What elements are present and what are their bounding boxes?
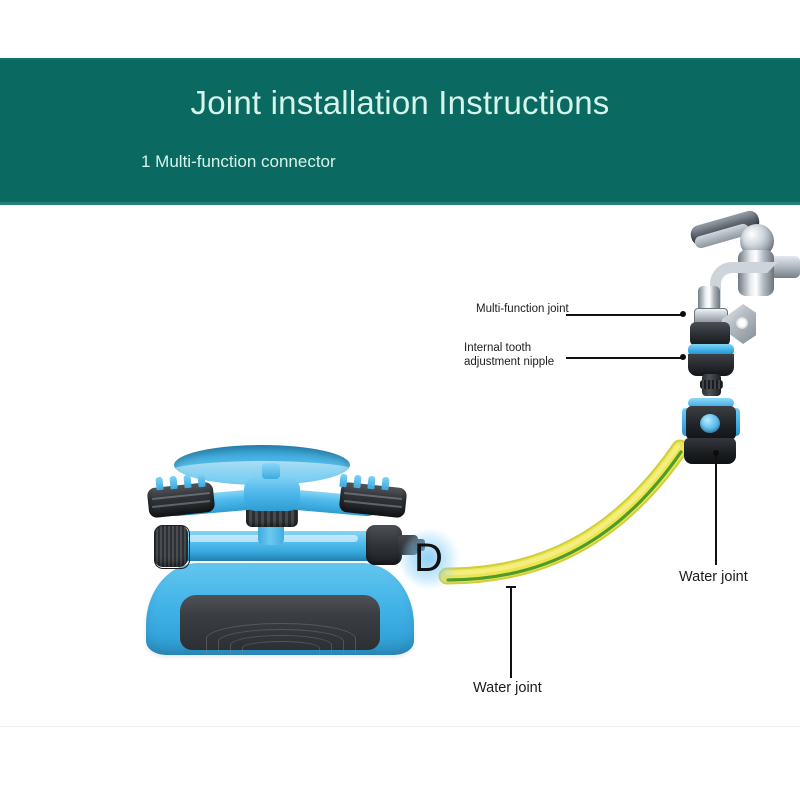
leader-dot-internal-tooth-nipple xyxy=(680,354,686,360)
pad-arc xyxy=(242,641,320,655)
label-water-joint-left: Water joint xyxy=(473,682,542,696)
leader-dot-multi-function-joint xyxy=(680,311,686,317)
nipple-ribs xyxy=(700,380,723,389)
multi-function-joint-lower xyxy=(688,354,734,376)
spray-pin xyxy=(353,475,361,489)
faint-divider xyxy=(0,726,800,727)
rotating-sprinkler-illustration xyxy=(128,455,428,660)
leader-line-water-joint-right xyxy=(715,455,717,565)
spray-pin xyxy=(367,476,375,490)
step-marker-d: D xyxy=(411,536,453,580)
label-multi-function-joint: Multi-function joint xyxy=(476,303,569,317)
leader-cap-water-joint-left xyxy=(506,586,516,588)
clamp-wing-hole xyxy=(736,317,748,329)
step-marker-letter: D xyxy=(414,536,443,580)
spray-pin xyxy=(169,476,177,490)
sprinkler-hub xyxy=(244,477,300,511)
page-title: Joint installation Instructions xyxy=(0,84,800,122)
spray-pin xyxy=(197,474,205,488)
sprinkler-outlet-connector xyxy=(366,525,402,565)
leader-dot-water-joint-right xyxy=(713,450,719,456)
label-internal-tooth-adjustment-nipple: Internal tooth adjustment nipple xyxy=(464,341,554,369)
label-water-joint-right: Water joint xyxy=(679,571,748,585)
leader-line-multi-function-joint xyxy=(566,314,682,316)
spray-pin xyxy=(381,477,389,491)
water-joint-release-button xyxy=(700,414,720,433)
page-subtitle: 1 Multi-function connector xyxy=(141,152,336,172)
sprinkler-hub-top xyxy=(262,463,280,479)
banner-top-edge xyxy=(0,58,800,60)
faucet-connector-assembly xyxy=(676,216,800,466)
header-banner: Joint installation Instructions 1 Multi-… xyxy=(0,58,800,205)
label-internal-tooth-line2: adjustment nipple xyxy=(464,355,554,369)
leader-line-water-joint-left xyxy=(510,588,512,678)
spray-pin xyxy=(183,475,191,489)
spray-pin xyxy=(339,474,347,488)
leader-line-internal-tooth-nipple xyxy=(566,357,682,359)
multi-function-joint-body xyxy=(690,322,730,346)
water-joint-hose-collar xyxy=(684,438,736,464)
left-cap-ring xyxy=(154,525,190,569)
spray-pin xyxy=(155,477,163,491)
label-internal-tooth-line1: Internal tooth xyxy=(464,341,554,355)
instruction-sheet: Joint installation Instructions 1 Multi-… xyxy=(0,0,800,800)
